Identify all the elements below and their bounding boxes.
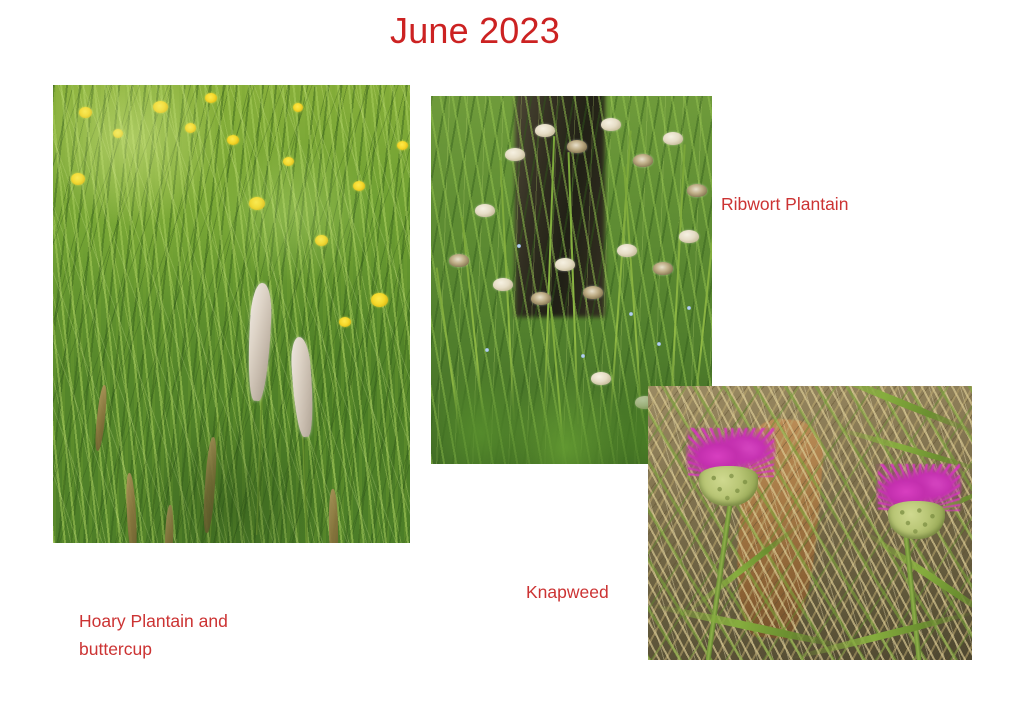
knapweed-flower: [686, 428, 776, 504]
photo-hoary-plantain[interactable]: [53, 85, 410, 543]
knapweed-bract-head: [699, 466, 758, 506]
ribwort-flower-head: [687, 184, 707, 197]
ribwort-flower-head: [531, 292, 551, 305]
ribwort-flower-head: [633, 154, 653, 167]
ribwort-flower-head: [679, 230, 699, 243]
ribwort-flower-head: [505, 148, 525, 161]
knapweed-bract-head: [888, 501, 945, 539]
photo-knapweed[interactable]: [648, 386, 972, 660]
knapweed-flower: [876, 464, 962, 538]
ribwort-flower-head: [663, 132, 683, 145]
meadow-lighting: [53, 85, 410, 543]
speedwell-fleck: [517, 244, 521, 248]
caption-ribwort-plantain: Ribwort Plantain: [721, 190, 848, 218]
ribwort-flower-head: [653, 262, 673, 275]
ribwort-flower-head: [493, 278, 513, 291]
slide-canvas: June 2023 Hoary Plantain a: [0, 0, 1024, 708]
ribwort-flower-head: [617, 244, 637, 257]
ribwort-flower-head: [449, 254, 469, 267]
ribwort-flower-head: [567, 140, 587, 153]
ribwort-flower-head: [601, 118, 621, 131]
ribwort-flower-head: [555, 258, 575, 271]
page-title: June 2023: [0, 9, 950, 53]
caption-hoary-plantain: Hoary Plantain and buttercup: [79, 607, 228, 663]
caption-knapweed: Knapweed: [526, 578, 609, 606]
ribwort-flower-head: [583, 286, 603, 299]
ribwort-flower-head: [475, 204, 495, 217]
ribwort-flower-head: [535, 124, 555, 137]
